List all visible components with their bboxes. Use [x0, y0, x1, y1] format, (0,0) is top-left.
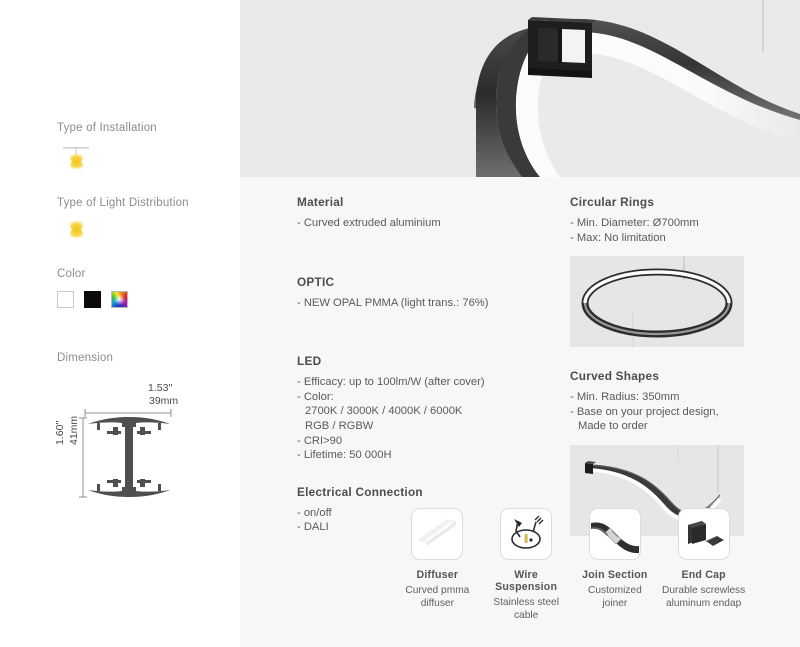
spec-line: - Min. Diameter: Ø700mm — [570, 216, 752, 231]
feature-desc: Customizedjoiner — [571, 585, 660, 610]
spec-line: - NEW OPAL PMMA (light trans.: 76%) — [297, 296, 547, 311]
product-spec-sheet: Type of Installation — [0, 0, 800, 647]
spec-line: 2700K / 3000K / 4000K / 6000K — [297, 404, 547, 419]
spacer — [297, 310, 547, 354]
spec-column-left: Material - Curved extruded aluminium OPT… — [297, 195, 547, 535]
spec-line: - Curved extruded aluminium — [297, 216, 547, 231]
spacer — [570, 347, 752, 369]
join-section-icon — [589, 508, 641, 560]
diffuser-icon — [411, 508, 463, 560]
spec-line: - Color: — [297, 390, 547, 405]
attribute-group-color: Color — [57, 268, 128, 308]
attribute-label-color: Color — [57, 268, 128, 280]
spec-block-led: LED - Efficacy: up to 100lm/W (after cov… — [297, 354, 547, 463]
attribute-group-light-distribution: Type of Light Distribution — [57, 197, 189, 253]
feature-end-cap[interactable]: End Cap Durable screwlessaluminum endap — [659, 508, 748, 628]
feature-join-section[interactable]: Join Section Customizedjoiner — [571, 508, 660, 628]
color-swatch-white[interactable] — [57, 291, 74, 308]
attribute-group-dimension: Dimension 1.53'' 39mm 1.60'' 41mm — [57, 352, 113, 364]
spec-line: Made to order — [570, 419, 752, 434]
spec-line: - Min. Radius: 350mm — [570, 390, 752, 405]
feature-desc: Durable screwlessaluminum endap — [659, 585, 748, 610]
left-attributes-panel: Type of Installation — [0, 0, 240, 647]
spec-line: - Max: No limitation — [570, 231, 752, 246]
direct-indirect-distribution-icon — [57, 218, 189, 253]
spec-title-electrical-connection: Electrical Connection — [297, 485, 547, 499]
color-swatches — [57, 291, 128, 308]
spec-line: - Lifetime: 50 000H — [297, 448, 547, 463]
feature-name: Join Section — [571, 569, 660, 581]
circular-ring-pendant-photo — [570, 256, 744, 347]
end-cap-icon — [678, 508, 730, 560]
spec-title-material: Material — [297, 195, 547, 209]
feature-name: End Cap — [659, 569, 748, 581]
feature-desc: Curved pmmadiffuser — [393, 585, 482, 610]
attribute-label-light-distribution: Type of Light Distribution — [57, 197, 189, 209]
spec-line: - CRI>90 — [297, 434, 547, 449]
color-swatch-black[interactable] — [84, 291, 101, 308]
feature-name: Diffuser — [393, 569, 482, 581]
attribute-label-dimension: Dimension — [57, 352, 113, 364]
color-swatch-rgb[interactable] — [111, 291, 128, 308]
accessory-feature-row: Diffuser Curved pmmadiffuser — [393, 508, 748, 628]
feature-desc: Stainless steelcable — [482, 597, 571, 622]
spec-line: - Efficacy: up to 100lm/W (after cover) — [297, 375, 547, 390]
attribute-group-installation: Type of Installation — [57, 122, 157, 182]
profile-cross-section-diagram: 1.53'' 39mm 1.60'' 41mm — [57, 382, 232, 502]
spacer — [297, 231, 547, 275]
spec-block-optic: OPTIC - NEW OPAL PMMA (light trans.: 76%… — [297, 275, 547, 311]
spec-line: RGB / RGBW — [297, 419, 547, 434]
hero-product-image — [240, 0, 800, 177]
feature-wire-suspension[interactable]: Wire Suspension Stainless steelcable — [482, 508, 571, 628]
wire-suspension-icon — [500, 508, 552, 560]
pendant-installation-icon — [57, 143, 157, 182]
attribute-label-installation: Type of Installation — [57, 122, 157, 134]
spec-column-right: Circular Rings - Min. Diameter: Ø700mm -… — [570, 195, 752, 536]
feature-diffuser[interactable]: Diffuser Curved pmmadiffuser — [393, 508, 482, 628]
spec-block-material: Material - Curved extruded aluminium — [297, 195, 547, 231]
spec-line: - Base on your project design, — [570, 405, 752, 420]
spec-title-optic: OPTIC — [297, 275, 547, 289]
spacer — [297, 463, 547, 485]
spec-title-circular-rings: Circular Rings — [570, 195, 752, 209]
spec-title-led: LED — [297, 354, 547, 368]
spec-title-curved-shapes: Curved Shapes — [570, 369, 752, 383]
spec-block-circular-rings: Circular Rings - Min. Diameter: Ø700mm -… — [570, 195, 752, 347]
feature-name: Wire Suspension — [482, 569, 571, 593]
